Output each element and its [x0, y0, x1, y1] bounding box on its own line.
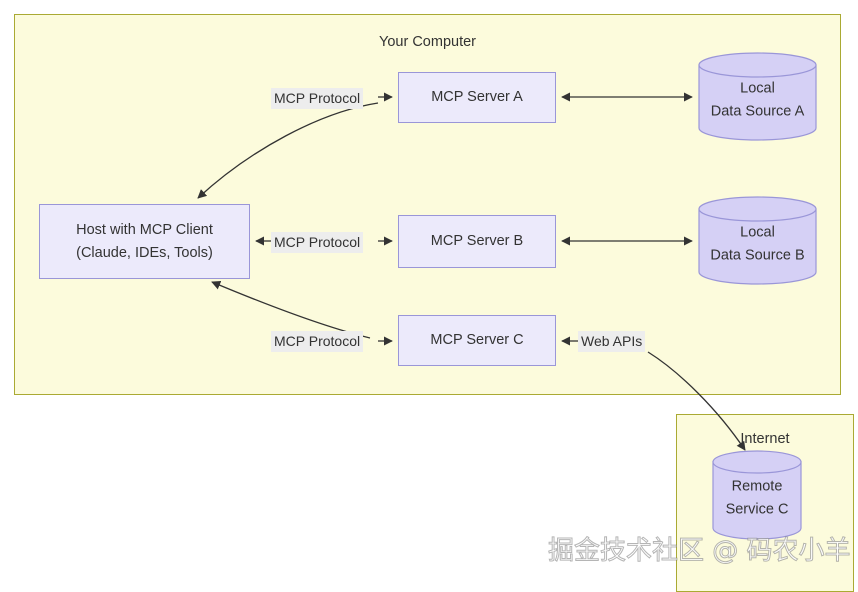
node-mcp-server-b[interactable]: MCP Server B — [398, 215, 556, 268]
group-internet-title: Internet — [677, 432, 853, 447]
node-local-data-source-b[interactable]: Local Data Source B — [698, 196, 817, 285]
edge-label-mcp-protocol-c: MCP Protocol — [271, 331, 363, 352]
cylinder-shape — [698, 196, 817, 285]
node-host[interactable]: Host with MCP Client (Claude, IDEs, Tool… — [39, 204, 250, 279]
node-mcp-server-a-label: MCP Server A — [431, 86, 523, 108]
node-mcp-server-c[interactable]: MCP Server C — [398, 315, 556, 366]
edge-label-mcp-protocol-a: MCP Protocol — [271, 88, 363, 109]
node-remote-service-c[interactable]: Remote Service C — [712, 450, 802, 540]
edge-label-web-apis: Web APIs — [578, 331, 645, 352]
group-your-computer-title: Your Computer — [15, 35, 840, 50]
diagram-canvas: Your Computer Internet — [0, 0, 858, 584]
node-host-line1: Host with MCP Client — [76, 219, 213, 241]
edge-label-mcp-protocol-b: MCP Protocol — [271, 232, 363, 253]
node-host-line2: (Claude, IDEs, Tools) — [76, 242, 213, 264]
cylinder-shape — [698, 52, 817, 141]
node-local-data-source-a[interactable]: Local Data Source A — [698, 52, 817, 141]
node-mcp-server-a[interactable]: MCP Server A — [398, 72, 556, 123]
node-mcp-server-b-label: MCP Server B — [431, 230, 523, 252]
cylinder-shape — [712, 450, 802, 540]
node-mcp-server-c-label: MCP Server C — [430, 329, 523, 351]
